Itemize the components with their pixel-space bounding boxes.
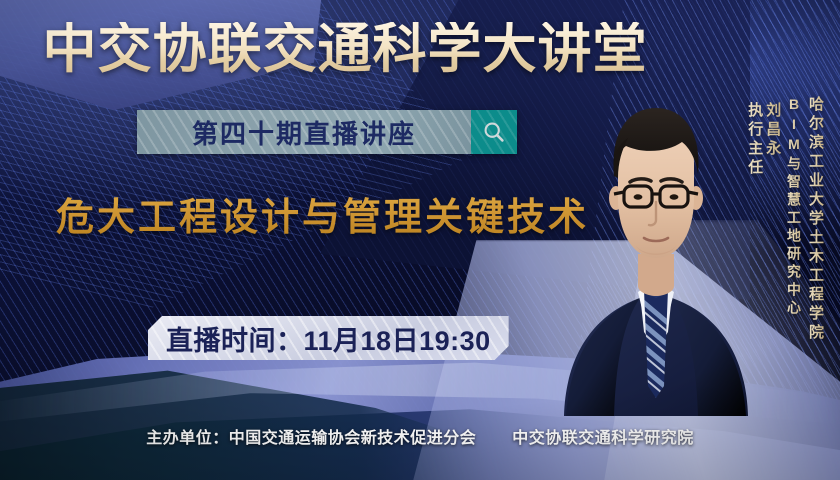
webinar-poster: 中交协联交通科学大讲堂 第四十期直播讲座 危大工程设计与管理关键技术 直播时间：… bbox=[0, 0, 840, 480]
vignette-overlay bbox=[0, 0, 840, 480]
episode-label: 第四十期直播讲座 bbox=[192, 114, 416, 151]
search-icon bbox=[482, 120, 506, 144]
